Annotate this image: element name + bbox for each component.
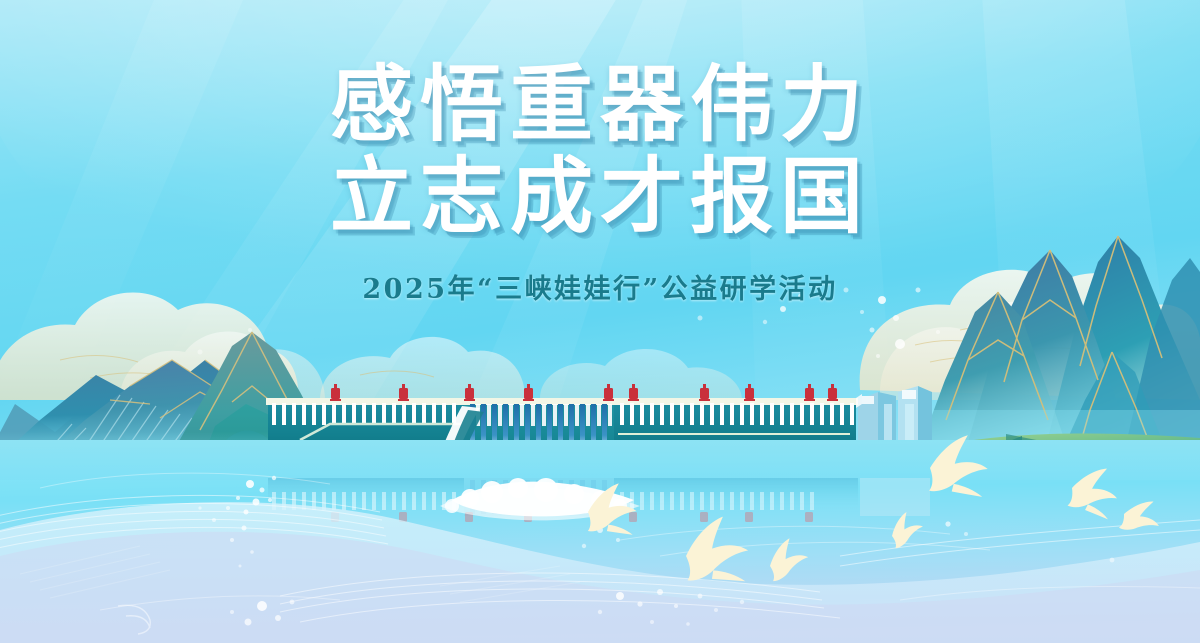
poster-canvas: 感悟重器伟力 立志成才报国 2025年“三峡娃娃行”公益研学活动 [0, 0, 1200, 643]
birds-and-bubbles-layer [0, 0, 1200, 643]
flying-birds [583, 434, 1164, 591]
water-bubbles [198, 476, 1114, 626]
